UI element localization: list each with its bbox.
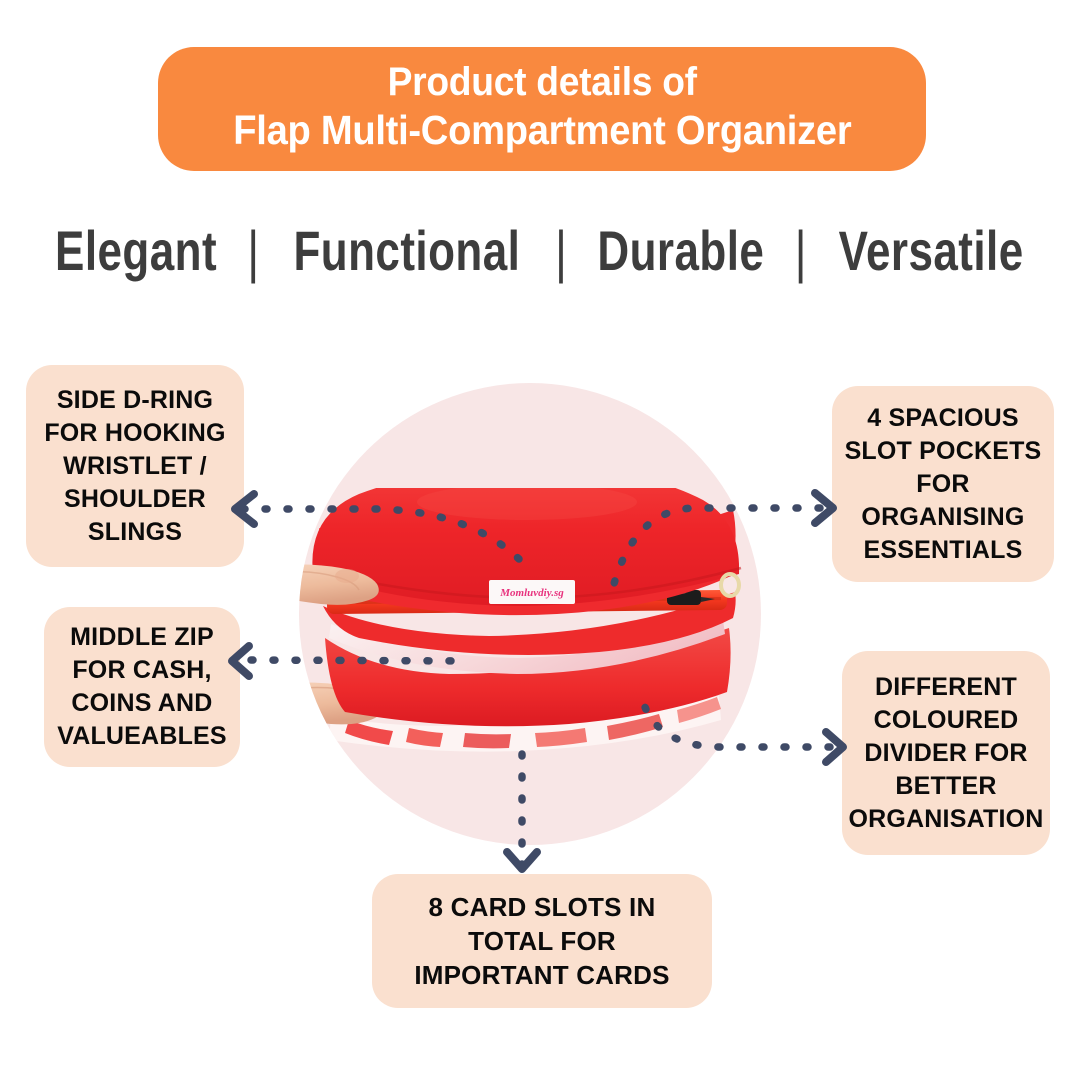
callout-coloured-divider-text: DIFFERENT COLOURED DIVIDER FOR BETTER OR… xyxy=(839,671,1054,836)
callout-card-slots-text: 8 CARD SLOTS IN TOTAL FOR IMPORTANT CARD… xyxy=(404,890,679,993)
callout-card-slots[interactable]: 8 CARD SLOTS IN TOTAL FOR IMPORTANT CARD… xyxy=(372,874,712,1008)
brand-label-text: Momluvdiy.sg xyxy=(499,587,564,599)
tagline-separator-2: | xyxy=(538,222,584,280)
product-image-stage: Momluvdiy.sg xyxy=(299,383,761,845)
side-d-ring-icon xyxy=(721,574,739,596)
callout-slot-pockets[interactable]: 4 SPACIOUS SLOT POCKETS FOR ORGANISING E… xyxy=(832,386,1054,582)
arrowhead-slot-pockets-icon xyxy=(815,493,833,523)
product-photo-organizer-wallet: Momluvdiy.sg xyxy=(289,488,771,766)
header-title-line-1: Product details of xyxy=(387,59,696,106)
callout-side-d-ring[interactable]: SIDE D-RING FOR HOOKING WRISTLET / SHOUL… xyxy=(26,365,244,567)
tagline-word-functional: Functional xyxy=(292,219,522,284)
tagline-word-versatile: Versatile xyxy=(836,219,1025,284)
tagline-word-durable: Durable xyxy=(596,219,766,284)
callout-slot-pockets-text: 4 SPACIOUS SLOT POCKETS FOR ORGANISING E… xyxy=(835,402,1052,567)
header-banner: Product details of Flap Multi-Compartmen… xyxy=(158,47,926,171)
tagline-word-elegant: Elegant xyxy=(53,219,219,284)
callout-side-d-ring-text: SIDE D-RING FOR HOOKING WRISTLET / SHOUL… xyxy=(34,384,235,549)
tagline-separator-3: | xyxy=(778,222,824,280)
brand-label: Momluvdiy.sg xyxy=(489,580,575,604)
tagline-row: Elegant | Functional | Durable | Versati… xyxy=(0,216,1080,286)
arrowhead-card-slots-icon xyxy=(507,852,537,869)
callout-middle-zip-text: MIDDLE ZIP FOR CASH, COINS AND VALUEABLE… xyxy=(47,621,237,753)
header-title-line-2: Flap Multi-Compartment Organizer xyxy=(233,106,851,154)
tagline-separator-1: | xyxy=(230,222,276,280)
infographic-canvas: Product details of Flap Multi-Compartmen… xyxy=(0,0,1080,1080)
callout-middle-zip[interactable]: MIDDLE ZIP FOR CASH, COINS AND VALUEABLE… xyxy=(44,607,240,767)
callout-coloured-divider[interactable]: DIFFERENT COLOURED DIVIDER FOR BETTER OR… xyxy=(842,651,1050,855)
